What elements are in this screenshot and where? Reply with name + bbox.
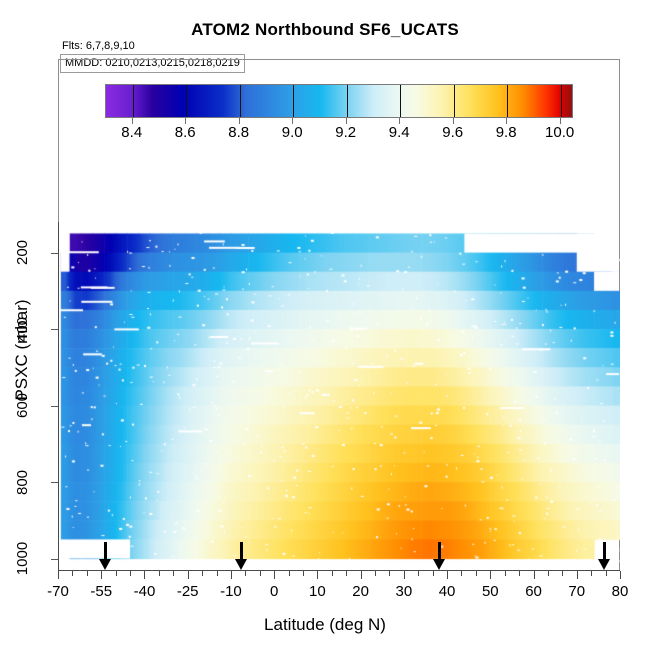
- x-axis-line: [58, 570, 620, 571]
- colorbar-tick-label: 9.8: [496, 124, 517, 141]
- x-axis-tick: [447, 571, 448, 579]
- colorbar-tick-label: 9.6: [442, 124, 463, 141]
- x-axis-tick: [188, 571, 189, 579]
- x-axis-minor-tick: [548, 571, 549, 576]
- y-axis-line: [58, 222, 59, 571]
- x-axis-tick-label: -70: [47, 583, 69, 600]
- x-axis-minor-tick: [217, 571, 218, 576]
- arrow-head: [433, 559, 445, 570]
- x-axis-tick: [231, 571, 232, 579]
- x-axis-minor-tick: [461, 571, 462, 576]
- colorbar-divider: [507, 85, 508, 117]
- x-axis-minor-tick: [433, 571, 434, 576]
- colorbar-tick-label: 9.4: [389, 124, 410, 141]
- colorbar-divider: [240, 85, 241, 117]
- x-axis-tick: [144, 571, 145, 579]
- y-axis-tick-label-holder: 800: [0, 456, 46, 508]
- x-axis-minor-tick: [202, 571, 203, 576]
- x-axis-tick: [58, 571, 59, 579]
- x-axis-minor-tick: [289, 571, 290, 576]
- colorbar-divider: [454, 85, 455, 117]
- colorbar-tick-label: 9.2: [335, 124, 356, 141]
- profile-arrow: [234, 542, 247, 570]
- x-axis-minor-tick: [389, 571, 390, 576]
- x-axis-minor-tick: [591, 571, 592, 576]
- y-axis-tick-label: 800: [15, 470, 32, 495]
- plot-page: ATOM2 Northbound SF6_UCATS Flts: 6,7,8,9…: [0, 0, 650, 650]
- arrow-head: [598, 559, 610, 570]
- y-axis-tick: [51, 406, 58, 407]
- y-axis-tick: [51, 559, 58, 560]
- x-axis-tick: [490, 571, 491, 579]
- x-axis-title: Latitude (deg N): [0, 615, 650, 635]
- arrow-head: [99, 559, 111, 570]
- curtain-plot[interactable]: [58, 222, 620, 570]
- colorbar-tick-label: 10.0: [545, 124, 574, 141]
- x-axis-tick-label: -40: [134, 583, 156, 600]
- colorbar-divider: [561, 85, 562, 117]
- colorbar-divider: [186, 85, 187, 117]
- y-axis-tick-label-holder: 1000: [0, 533, 46, 585]
- x-axis-tick-label: 70: [568, 583, 585, 600]
- x-axis-tick: [620, 571, 621, 579]
- colorbar-divider: [133, 85, 134, 117]
- x-axis-tick-label: 10: [309, 583, 326, 600]
- x-axis-minor-tick: [303, 571, 304, 576]
- x-axis-tick-label: 60: [525, 583, 542, 600]
- x-axis-minor-tick: [87, 571, 88, 576]
- y-axis-tick: [51, 253, 58, 254]
- x-axis-tick-label: 0: [270, 583, 278, 600]
- profile-arrow: [98, 542, 111, 570]
- x-axis-tick-label: 80: [612, 583, 629, 600]
- colorbar-divider: [347, 85, 348, 117]
- x-axis-tick: [404, 571, 405, 579]
- y-axis-title: PSXC (mbar): [12, 250, 32, 450]
- x-axis-tick: [274, 571, 275, 579]
- colorbar-tick-label: 8.6: [175, 124, 196, 141]
- colorbar-tick-label: 9.0: [282, 124, 303, 141]
- x-axis-minor-tick: [260, 571, 261, 576]
- x-axis-minor-tick: [346, 571, 347, 576]
- x-axis-minor-tick: [332, 571, 333, 576]
- colorbar-divider: [400, 85, 401, 117]
- x-axis-minor-tick: [562, 571, 563, 576]
- x-axis-tick-label: -55: [90, 583, 112, 600]
- arrow-head: [235, 559, 247, 570]
- x-axis-minor-tick: [519, 571, 520, 576]
- x-axis-minor-tick: [173, 571, 174, 576]
- flights-annotation: Flts: 6,7,8,9,10: [62, 40, 135, 52]
- y-axis-tick-label: 1000: [15, 542, 32, 575]
- x-axis-minor-tick: [505, 571, 506, 576]
- x-axis-tick-label: 40: [439, 583, 456, 600]
- colorbar-divider: [293, 85, 294, 117]
- x-axis-tick-label: 20: [352, 583, 369, 600]
- x-axis-minor-tick: [116, 571, 117, 576]
- x-axis-minor-tick: [606, 571, 607, 576]
- x-axis-minor-tick: [72, 571, 73, 576]
- x-axis-tick-label: -25: [177, 583, 199, 600]
- profile-arrow: [432, 542, 445, 570]
- colorbar-tick-label: 8.4: [121, 124, 142, 141]
- x-axis-minor-tick: [245, 571, 246, 576]
- x-axis-minor-tick: [130, 571, 131, 576]
- x-axis-tick-label: -10: [220, 583, 242, 600]
- x-axis-minor-tick: [476, 571, 477, 576]
- x-axis-tick-label: 50: [482, 583, 499, 600]
- x-axis-minor-tick: [375, 571, 376, 576]
- y-axis-tick: [51, 482, 58, 483]
- x-axis-minor-tick: [159, 571, 160, 576]
- curtain-canvas: [58, 222, 620, 570]
- colorbar-gradient-fill: [106, 85, 572, 117]
- x-axis-tick-label: 30: [396, 583, 413, 600]
- y-axis-tick: [51, 329, 58, 330]
- colorbar-gradient: [105, 84, 573, 118]
- x-axis-tick: [577, 571, 578, 579]
- x-axis-tick: [534, 571, 535, 579]
- colorbar-tick-label: 8.8: [228, 124, 249, 141]
- x-axis-tick: [317, 571, 318, 579]
- x-axis-tick: [101, 571, 102, 579]
- page-title: ATOM2 Northbound SF6_UCATS: [0, 20, 650, 40]
- x-axis-tick: [361, 571, 362, 579]
- x-axis-minor-tick: [418, 571, 419, 576]
- profile-arrow: [597, 542, 610, 570]
- colorbar[interactable]: 8.48.68.89.09.29.49.69.810.0: [105, 84, 573, 118]
